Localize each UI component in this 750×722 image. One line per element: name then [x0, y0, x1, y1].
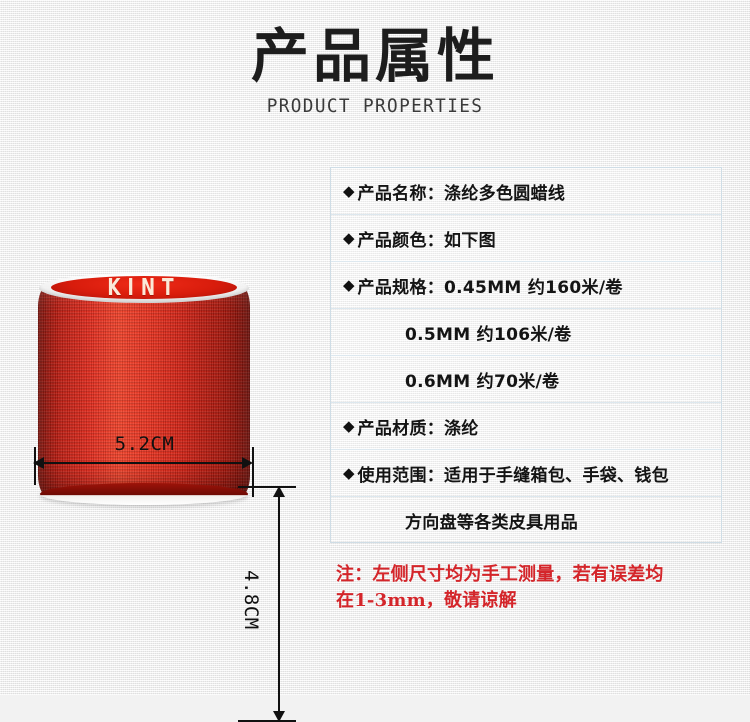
spec-row-text: 产品规格：0.45MM 约160米/卷 — [358, 273, 623, 298]
page-header: 产品属性 PRODUCT PROPERTIES — [0, 26, 750, 117]
spec-row: 方向盘等各类皮具用品 — [331, 497, 721, 544]
height-dimension-line — [278, 495, 280, 713]
note-line-1: 注：左侧尺寸均为手工测量，若有误差均 — [336, 562, 736, 588]
width-arrow-right-icon — [242, 457, 253, 469]
diamond-bullet-icon: ◆ — [343, 466, 355, 481]
specification-panel: ◆产品名称：涤纶多色圆蜡线◆产品颜色：如下图◆产品规格：0.45MM 约160米… — [330, 167, 722, 543]
spec-row: 0.6MM 约70米/卷 — [331, 356, 721, 403]
width-dimension-line — [42, 462, 244, 464]
height-extension-line-top — [238, 486, 296, 488]
width-dimension-label: 5.2CM — [42, 433, 247, 455]
spool-brand-label: KINT — [51, 276, 237, 299]
note-line-2: 在1-3mm，敬请谅解 — [336, 588, 736, 614]
page-subtitle: PRODUCT PROPERTIES — [26, 95, 724, 117]
spec-row: ◆使用范围：适用于手缝箱包、手袋、钱包 — [331, 450, 721, 497]
spec-row: ◆产品名称：涤纶多色圆蜡线 — [331, 168, 721, 215]
spec-row: ◆产品规格：0.45MM 约160米/卷 — [331, 262, 721, 309]
spec-row: ◆产品颜色：如下图 — [331, 215, 721, 262]
product-image-thread-spool: KINT — [38, 273, 250, 503]
height-arrow-bottom-icon — [273, 711, 285, 722]
diamond-bullet-icon: ◆ — [343, 231, 355, 246]
spec-row-text: 产品颜色：如下图 — [358, 226, 496, 251]
spec-row-text: 产品名称：涤纶多色圆蜡线 — [358, 179, 566, 204]
width-arrow-left-icon — [33, 457, 44, 469]
spec-row-text: 使用范围：适用于手缝箱包、手袋、钱包 — [358, 461, 669, 486]
height-arrow-top-icon — [273, 486, 285, 497]
spec-row: 0.5MM 约106米/卷 — [331, 309, 721, 356]
spool-bottom-flange — [40, 483, 248, 505]
diamond-bullet-icon: ◆ — [343, 419, 355, 434]
width-extension-line-right — [252, 447, 254, 497]
measurement-disclaimer-note: 注：左侧尺寸均为手工测量，若有误差均 在1-3mm，敬请谅解 — [336, 562, 736, 614]
spec-row: ◆产品材质：涤纶 — [331, 403, 721, 450]
spec-row-text: 产品材质：涤纶 — [358, 414, 479, 439]
height-dimension-label: 4.8CM — [240, 570, 262, 630]
diamond-bullet-icon: ◆ — [343, 184, 355, 199]
spec-row-text: 0.6MM 约70米/卷 — [405, 367, 559, 392]
product-figure: KINT 5.2CM 4.8CM — [0, 215, 320, 525]
page-title: 产品属性 — [0, 26, 750, 87]
spec-row-text: 0.5MM 约106米/卷 — [405, 320, 571, 345]
diamond-bullet-icon: ◆ — [343, 278, 355, 293]
spool-thread-winding — [38, 285, 250, 497]
spec-row-text: 方向盘等各类皮具用品 — [405, 508, 578, 533]
spool-brand-label-text: KINT — [107, 276, 180, 299]
